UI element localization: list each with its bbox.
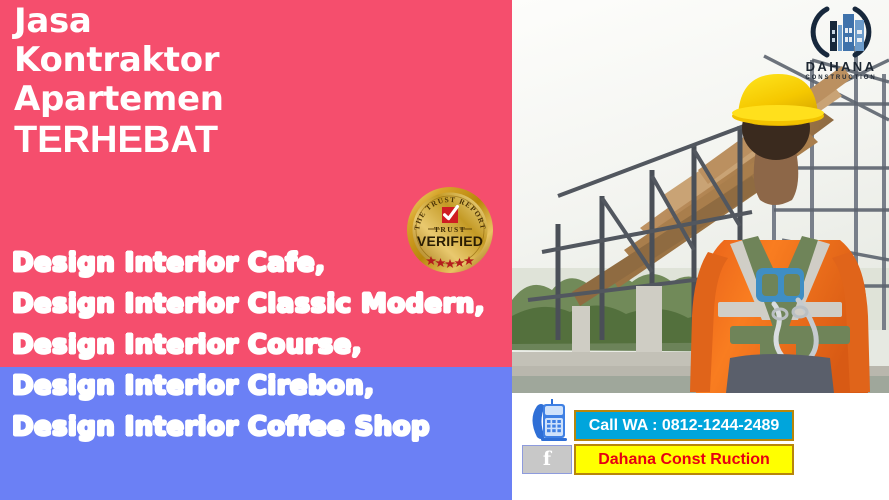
company-name-label: Dahana Const Ruction [598, 451, 770, 469]
headline-line-3: Apartemen [14, 80, 484, 119]
svg-text:VERIFIED: VERIFIED [417, 233, 483, 249]
whatsapp-call-label: Call WA : 0812-1244-2489 [589, 417, 780, 435]
contact-strip: f Call WA : 0812-1244-2489 Dahana Const … [512, 393, 889, 500]
headline-line-4: TERHEBAT [14, 119, 484, 161]
company-name-badge[interactable]: Dahana Const Ruction [574, 444, 794, 475]
dahana-logo-mark [797, 4, 885, 60]
service-item: Design Interior Cirebon, [12, 366, 512, 407]
headline-block: Jasa Kontraktor Apartemen TERHEBAT [14, 2, 484, 161]
promo-banner: Jasa Kontraktor Apartemen TERHEBAT Desig… [0, 0, 889, 500]
logo-company-name: DAHANA [797, 60, 885, 74]
trust-verified-badge: THE TRUST REPORT TRUST VERIFIED [406, 186, 494, 274]
facebook-glyph: f [543, 450, 551, 469]
service-item: Design Interior Course, [12, 325, 512, 366]
telephone-icon [524, 398, 570, 444]
service-item: Design Interior Classic Modern, [12, 284, 512, 325]
facebook-icon[interactable]: f [522, 445, 572, 474]
company-logo: DAHANA CONSTRUCTION [797, 4, 885, 86]
whatsapp-call-button[interactable]: Call WA : 0812-1244-2489 [574, 410, 794, 441]
logo-company-subtitle: CONSTRUCTION [797, 74, 885, 83]
headline-line-2: Kontraktor [14, 41, 484, 80]
headline-line-1: Jasa [14, 2, 484, 41]
service-item: Design Interior Coffee Shop [12, 407, 512, 448]
